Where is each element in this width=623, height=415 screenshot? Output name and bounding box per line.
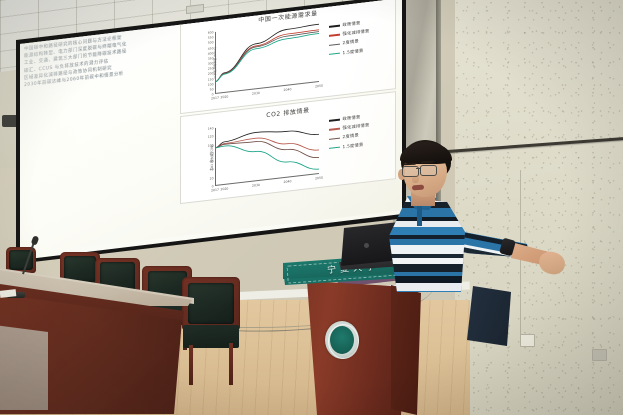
legend-color-swatch bbox=[329, 43, 340, 46]
shirt-stripe bbox=[389, 283, 467, 291]
y-tick-label: 600 bbox=[208, 30, 214, 35]
legend-label: 强化减排情景 bbox=[343, 122, 370, 131]
x-tick-label: 2050 bbox=[315, 83, 323, 88]
x-tick-label: 2020 bbox=[221, 186, 229, 191]
y-tick-label: 100 bbox=[208, 82, 214, 87]
shirt-stripe bbox=[389, 245, 467, 253]
chart-series-layer bbox=[215, 20, 319, 94]
wall-outlet[interactable] bbox=[592, 349, 607, 361]
y-tick-label: 350 bbox=[208, 56, 214, 61]
y-tick-label: 40 bbox=[210, 168, 214, 172]
legend-label: 强化减排情景 bbox=[343, 28, 370, 37]
y-tick-label: 80 bbox=[210, 151, 214, 155]
conference-table bbox=[0, 262, 210, 414]
chart-legend: 政策情景强化减排情景2度情景1.5度情景 bbox=[329, 113, 369, 154]
chart-series-layer bbox=[215, 116, 319, 186]
y-tick-label: 250 bbox=[208, 66, 214, 71]
chart-plot-area: CO2 排放量 (亿吨) 201720202030204020501401201… bbox=[215, 116, 319, 186]
chart-series-line bbox=[215, 32, 319, 82]
y-tick-label: 20 bbox=[210, 176, 214, 180]
wall-speaker-icon bbox=[2, 115, 18, 127]
eyeglasses-bridge bbox=[416, 168, 421, 169]
x-tick-label: 2040 bbox=[284, 179, 292, 184]
legend-item: 1.5度情景 bbox=[329, 141, 369, 152]
speaker-mouth bbox=[412, 185, 424, 191]
y-tick-label: 100 bbox=[208, 143, 214, 148]
legend-label: 1.5度情景 bbox=[343, 47, 364, 55]
y-tick-label: 0 bbox=[212, 184, 214, 188]
speaker-torso bbox=[389, 198, 467, 292]
y-tick-label: 400 bbox=[208, 51, 214, 56]
y-tick-label: 60 bbox=[210, 159, 214, 163]
x-tick-label: 2040 bbox=[284, 87, 292, 92]
chart-series-line bbox=[215, 133, 319, 169]
chair-leg bbox=[229, 343, 233, 385]
chart-plot-area: 一次能源需求量 (Mtce) 2017202020302040205060055… bbox=[215, 20, 319, 94]
x-tick-label: 2020 bbox=[221, 94, 229, 99]
chart-series-line bbox=[215, 135, 319, 181]
speaker bbox=[381, 140, 521, 340]
legend-color-swatch bbox=[329, 119, 340, 122]
speaker-nose bbox=[412, 174, 419, 183]
legend-label: 政策情景 bbox=[343, 114, 361, 122]
legend-color-swatch bbox=[329, 146, 340, 149]
shirt-stripe bbox=[389, 264, 467, 272]
legend-color-swatch bbox=[329, 137, 340, 140]
legend-label: 2度情景 bbox=[343, 39, 359, 47]
legend-label: 2度情景 bbox=[343, 133, 359, 141]
laptop-logo-icon bbox=[364, 243, 369, 248]
x-tick-label: 2030 bbox=[252, 182, 260, 187]
legend-label: 政策情景 bbox=[343, 20, 361, 28]
y-tick-label: 0 bbox=[212, 92, 214, 96]
speaker-legs bbox=[467, 286, 513, 346]
legend-color-swatch bbox=[329, 52, 340, 55]
legend-item: 1.5度情景 bbox=[329, 47, 369, 58]
university-crest-icon bbox=[325, 321, 359, 359]
chart-series-line bbox=[215, 24, 319, 82]
y-tick-label: 120 bbox=[208, 135, 214, 140]
y-tick-label: 300 bbox=[208, 61, 214, 66]
wall-outlet[interactable] bbox=[520, 334, 535, 347]
y-axis-title: CO2 排放量 (亿吨) bbox=[210, 144, 214, 170]
y-tick-label: 140 bbox=[208, 126, 214, 131]
legend-label: 1.5度情景 bbox=[343, 141, 364, 149]
y-tick-label: 550 bbox=[208, 35, 214, 40]
chart-series-line bbox=[215, 125, 319, 148]
y-tick-label: 150 bbox=[208, 77, 214, 82]
legend-color-swatch bbox=[329, 128, 340, 131]
chart-legend: 政策情景强化减排情景2度情景1.5度情景 bbox=[329, 19, 369, 60]
chart-series-line bbox=[215, 33, 319, 81]
legend-color-swatch bbox=[329, 25, 340, 28]
legend-color-swatch bbox=[329, 34, 340, 37]
y-tick-label: 450 bbox=[208, 46, 214, 51]
x-tick-label: 2050 bbox=[315, 175, 323, 180]
y-tick-label: 50 bbox=[210, 87, 214, 91]
x-tick-label: 2030 bbox=[252, 90, 260, 95]
shirt-stripe bbox=[389, 227, 467, 235]
chart-series-line bbox=[215, 30, 319, 82]
y-tick-label: 200 bbox=[208, 72, 214, 77]
y-tick-label: 500 bbox=[208, 41, 214, 46]
lecture-hall-photo: 努力同心 "双碳" 目标司 3、中国能源与环境的碳中和达成的减排路径开发 中国碳… bbox=[0, 0, 623, 415]
eyeglasses-icon bbox=[420, 165, 437, 176]
polo-placket bbox=[417, 206, 422, 226]
crest-ring bbox=[328, 324, 359, 359]
shirt-stripe bbox=[389, 291, 467, 292]
table-side-panel bbox=[0, 324, 50, 410]
